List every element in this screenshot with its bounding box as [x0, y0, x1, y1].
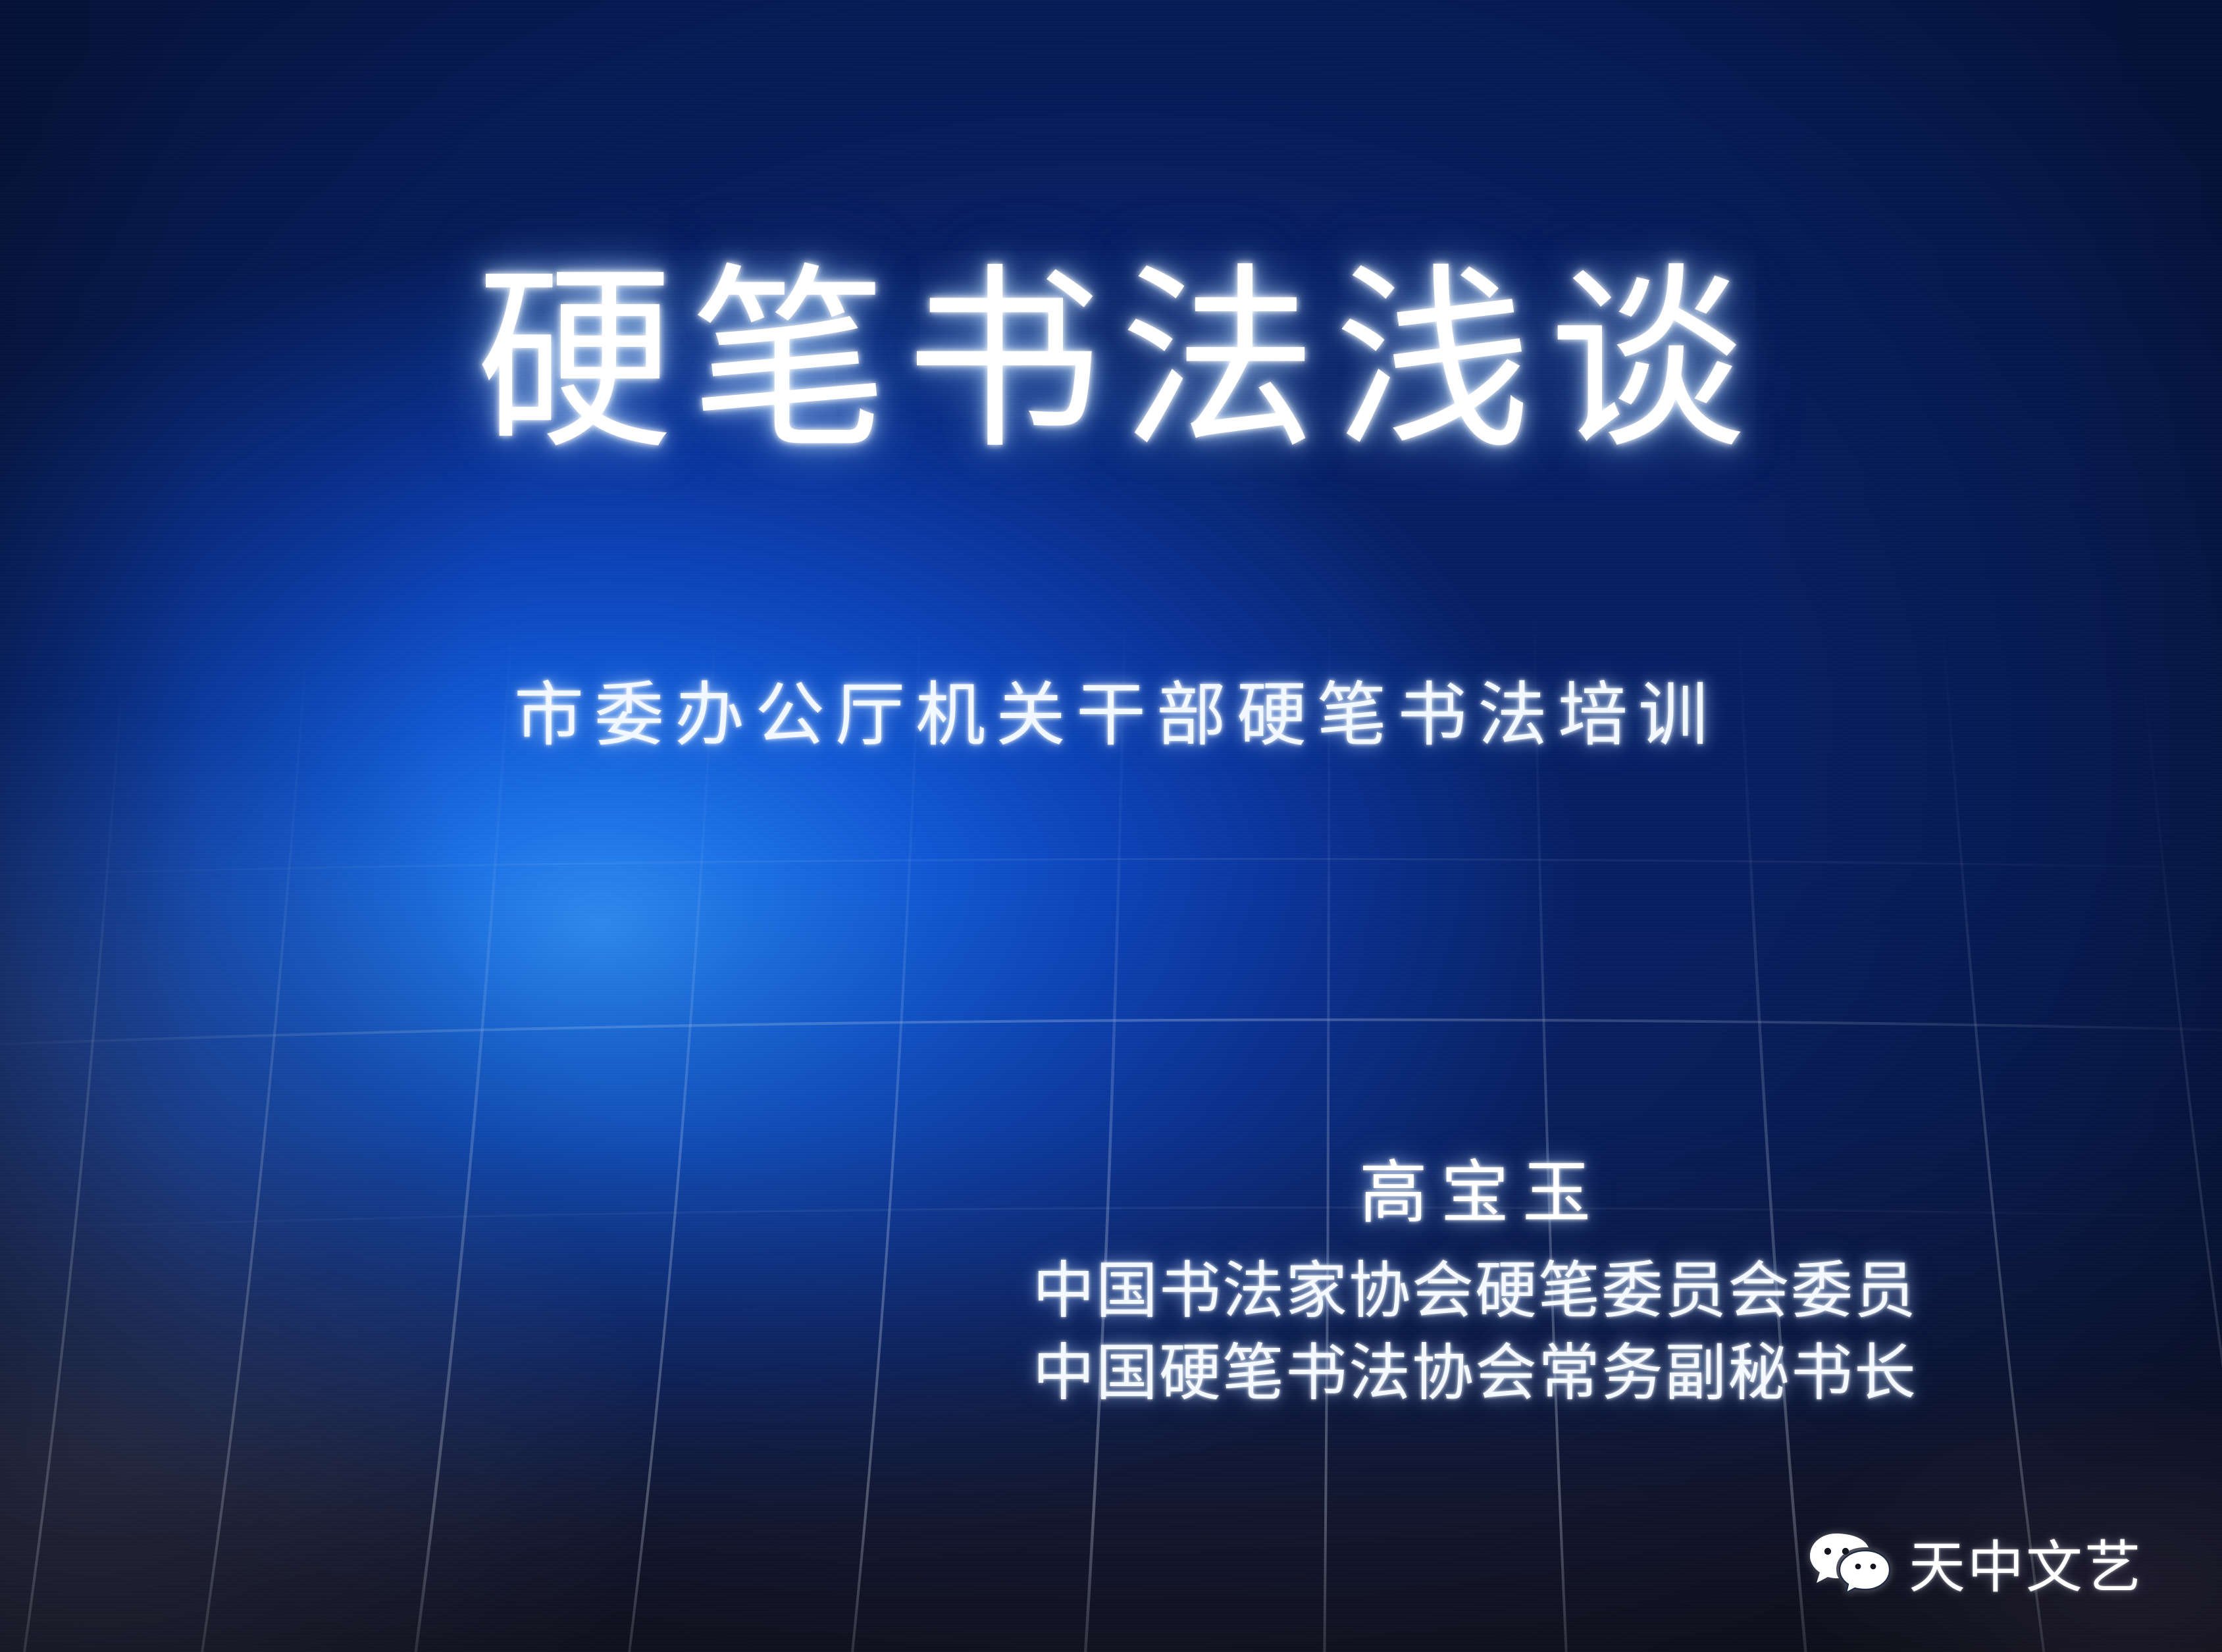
watermark-label: 天中文艺: [1909, 1539, 2143, 1596]
presenter-name: 高宝玉: [962, 1156, 1988, 1232]
wechat-icon: [1807, 1531, 1892, 1605]
presenter-block: 高宝玉 中国书法家协会硬笔委员会委员 中国硬笔书法协会常务副秘书长: [962, 1156, 1988, 1414]
presenter-credential-2: 中国硬笔书法协会常务副秘书长: [962, 1333, 1988, 1414]
slide-subtitle: 市委办公厅机关干部硬笔书法培训: [0, 658, 2222, 760]
watermark: 天中文艺: [1807, 1531, 2143, 1605]
presenter-credential-1: 中国书法家协会硬笔委员会委员: [962, 1251, 1988, 1332]
slide-title: 硬笔书法浅谈: [0, 258, 2222, 467]
presentation-slide: 硬笔书法浅谈 市委办公厅机关干部硬笔书法培训 高宝玉 中国书法家协会硬笔委员会委…: [0, 0, 2222, 1652]
